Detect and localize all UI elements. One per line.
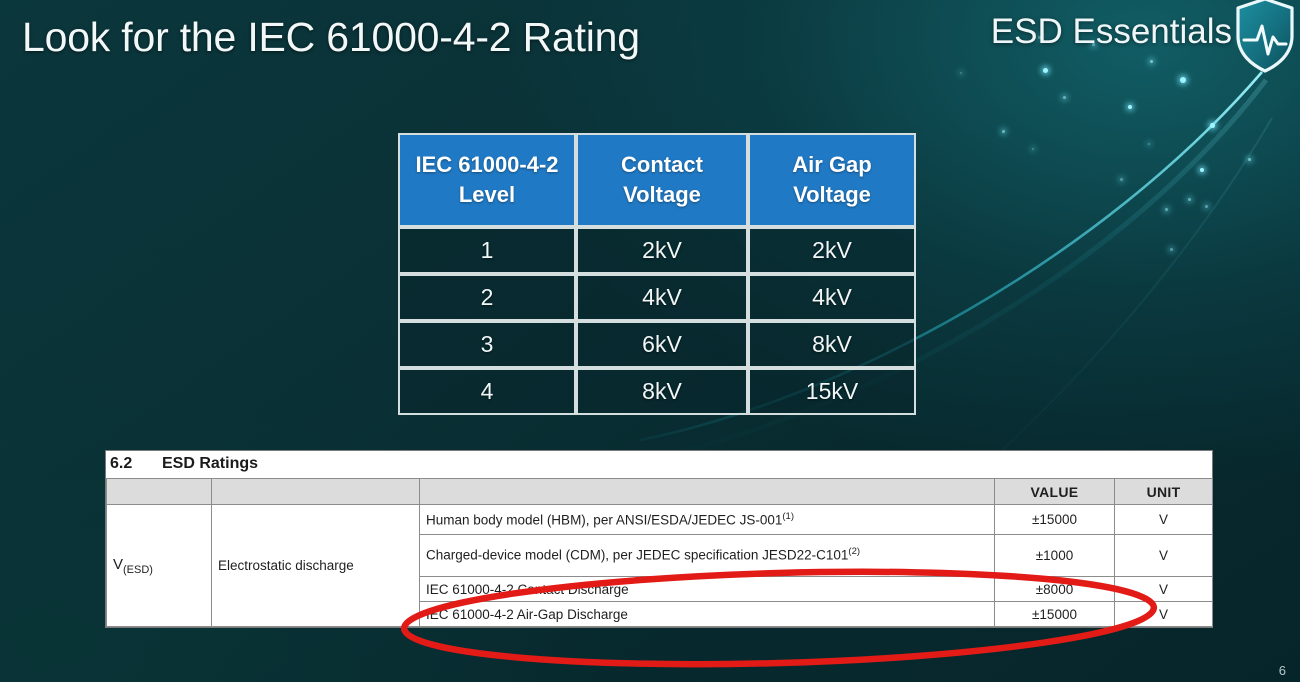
slide-title: Look for the IEC 61000-4-2 Rating <box>22 14 640 61</box>
cell-unit: V <box>1115 577 1213 602</box>
cell-contact: 2kV <box>576 227 748 274</box>
table-row: 4 8kV 15kV <box>398 368 916 415</box>
cell-unit: V <box>1115 535 1213 577</box>
spark-particle <box>1063 96 1066 99</box>
col-header-airgap-line2: Voltage <box>793 182 871 207</box>
spark-particle <box>1248 158 1251 161</box>
table-header-row: IEC 61000-4-2 Level Contact Voltage Air … <box>398 133 916 227</box>
spark-particle <box>1188 198 1191 201</box>
spark-particle <box>1165 208 1168 211</box>
datasheet-section-heading: 6.2 ESD Ratings <box>106 451 1212 478</box>
cell-description: IEC 61000-4-2 Air-Gap Discharge <box>420 602 995 627</box>
section-number: 6.2 <box>110 455 162 473</box>
header-blank-description <box>420 479 995 505</box>
footnote-marker: (2) <box>848 546 860 557</box>
spark-particle <box>1205 205 1208 208</box>
slide-canvas: Look for the IEC 61000-4-2 Rating ESD Es… <box>0 0 1300 682</box>
col-header-airgap-line1: Air Gap <box>792 152 871 177</box>
spark-particle <box>1032 148 1034 150</box>
spark-particle <box>1180 77 1186 83</box>
spark-particle <box>1002 130 1005 133</box>
cell-value: ±8000 <box>995 577 1115 602</box>
cell-contact: 6kV <box>576 321 748 368</box>
cell-parameter: Electrostatic discharge <box>212 505 420 627</box>
cell-value: ±15000 <box>995 602 1115 627</box>
iec-level-table: IEC 61000-4-2 Level Contact Voltage Air … <box>398 133 916 415</box>
spark-particle <box>1043 68 1048 73</box>
footnote-marker: (1) <box>782 511 794 522</box>
table-row: 1 2kV 2kV <box>398 227 916 274</box>
col-header-contact-line1: Contact <box>621 152 703 177</box>
cell-contact: 8kV <box>576 368 748 415</box>
cell-level: 3 <box>398 321 576 368</box>
cell-symbol: V(ESD) <box>107 505 212 627</box>
table-row: 2 4kV 4kV <box>398 274 916 321</box>
spark-particle <box>1150 60 1153 63</box>
col-header-contact: Contact Voltage <box>576 133 748 227</box>
esd-ratings-table: VALUE UNIT V(ESD) Electrostatic discharg… <box>106 478 1213 627</box>
cell-airgap: 2kV <box>748 227 916 274</box>
spark-particle <box>1128 105 1132 109</box>
spark-particle <box>1170 248 1173 251</box>
symbol-base: V <box>113 556 123 573</box>
shield-pulse-icon <box>1234 0 1296 74</box>
description-text: Charged-device model (CDM), per JEDEC sp… <box>426 548 848 563</box>
table-row: 3 6kV 8kV <box>398 321 916 368</box>
header-blank-symbol <box>107 479 212 505</box>
description-text: Human body model (HBM), per ANSI/ESDA/JE… <box>426 513 782 528</box>
col-header-level: IEC 61000-4-2 Level <box>398 133 576 227</box>
col-header-airgap: Air Gap Voltage <box>748 133 916 227</box>
header-value: VALUE <box>995 479 1115 505</box>
spark-particle <box>1120 178 1123 181</box>
symbol-subscript: (ESD) <box>123 564 153 576</box>
header-blank-parameter <box>212 479 420 505</box>
spark-particle <box>1210 123 1215 128</box>
col-header-level-line1: IEC 61000-4-2 <box>415 152 558 177</box>
page-number: 6 <box>1279 663 1286 678</box>
cell-airgap: 4kV <box>748 274 916 321</box>
spark-particle <box>960 72 962 74</box>
col-header-level-line2: Level <box>459 182 515 207</box>
cell-level: 2 <box>398 274 576 321</box>
cell-description: Charged-device model (CDM), per JEDEC sp… <box>420 535 995 577</box>
cell-airgap: 15kV <box>748 368 916 415</box>
cell-value: ±15000 <box>995 505 1115 535</box>
datasheet-excerpt: 6.2 ESD Ratings VALUE UNIT V(ESD) Electr… <box>105 450 1213 628</box>
spark-particle <box>1148 143 1150 145</box>
col-header-contact-line2: Voltage <box>623 182 701 207</box>
cell-unit: V <box>1115 602 1213 627</box>
cell-contact: 4kV <box>576 274 748 321</box>
spark-particle <box>1200 168 1204 172</box>
cell-level: 1 <box>398 227 576 274</box>
cell-airgap: 8kV <box>748 321 916 368</box>
table-row: V(ESD) Electrostatic discharge Human bod… <box>107 505 1213 535</box>
brand-label: ESD Essentials <box>991 12 1232 52</box>
cell-description: Human body model (HBM), per ANSI/ESDA/JE… <box>420 505 995 535</box>
section-title: ESD Ratings <box>162 455 258 473</box>
cell-value: ±1000 <box>995 535 1115 577</box>
cell-level: 4 <box>398 368 576 415</box>
table-header-row: VALUE UNIT <box>107 479 1213 505</box>
cell-unit: V <box>1115 505 1213 535</box>
cell-description: IEC 61000-4-2 Contact Discharge <box>420 577 995 602</box>
header-unit: UNIT <box>1115 479 1213 505</box>
